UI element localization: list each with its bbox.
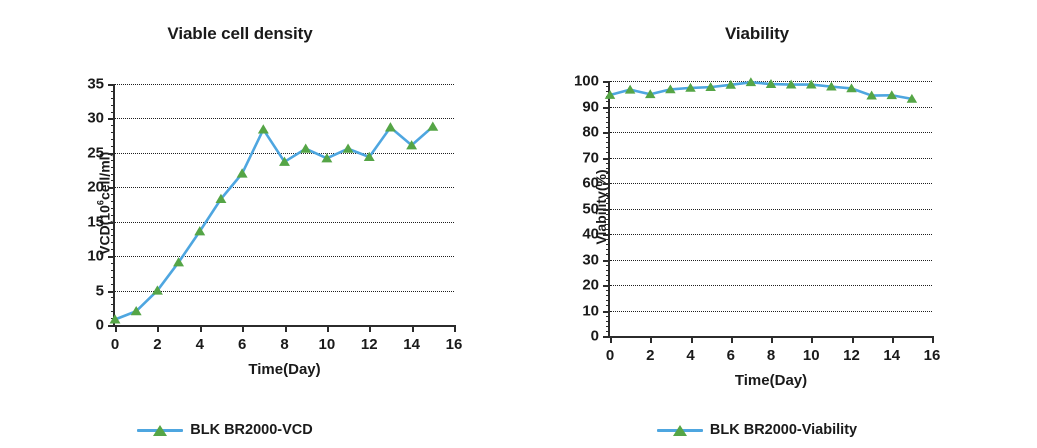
x-axis-tick-label: 10 xyxy=(803,347,820,364)
x-axis-tick xyxy=(454,325,456,332)
x-axis-tick-label: 2 xyxy=(646,347,654,364)
plot-area-viability: Viability(%) Time(Day) 01020304050607080… xyxy=(608,81,932,338)
y-axis-tick-label: 90 xyxy=(582,98,599,115)
y-axis-tick xyxy=(603,107,610,109)
series-layer xyxy=(610,81,932,336)
x-axis-tick-label: 12 xyxy=(361,336,378,353)
chart-title-vcd: Viable cell density xyxy=(30,24,450,44)
x-axis-tick xyxy=(327,325,329,332)
x-axis-tick xyxy=(115,325,117,332)
x-axis-tick xyxy=(650,336,652,343)
x-axis-tick xyxy=(242,325,244,332)
x-axis-tick-label: 16 xyxy=(924,347,941,364)
series-line xyxy=(610,82,912,99)
x-axis-tick-label: 2 xyxy=(153,336,161,353)
y-axis-tick-label: 30 xyxy=(87,110,104,127)
x-axis-tick xyxy=(892,336,894,343)
x-axis-tick xyxy=(852,336,854,343)
y-axis-tick xyxy=(603,260,610,262)
plot-area-vcd: VCD(106cell/ml) Time(Day) 05101520253035… xyxy=(113,84,454,327)
y-axis-tick xyxy=(603,234,610,236)
x-axis-tick xyxy=(412,325,414,332)
y-axis-tick xyxy=(108,291,115,293)
x-axis-tick-label: 6 xyxy=(727,347,735,364)
x-axis-tick-label: 8 xyxy=(767,347,775,364)
x-axis-tick-label: 10 xyxy=(319,336,336,353)
y-axis-tick xyxy=(603,183,610,185)
chart-panel-vcd: Viable cell density VCD(106cell/ml) Time… xyxy=(0,0,520,448)
x-axis-title-viability: Time(Day) xyxy=(610,372,932,389)
y-axis-tick xyxy=(603,158,610,160)
y-axis-tick-label: 20 xyxy=(87,179,104,196)
y-axis-tick xyxy=(108,222,115,224)
y-axis-tick-label: 15 xyxy=(87,213,104,230)
x-axis-title-vcd: Time(Day) xyxy=(115,361,454,378)
x-axis-tick xyxy=(157,325,159,332)
x-axis-tick xyxy=(285,325,287,332)
y-axis-tick xyxy=(108,187,115,189)
series-layer xyxy=(115,84,454,325)
x-axis-tick-label: 8 xyxy=(280,336,288,353)
y-axis-tick-label: 10 xyxy=(87,248,104,265)
x-axis-tick xyxy=(932,336,934,343)
y-axis-tick-label: 25 xyxy=(87,144,104,161)
x-axis-tick-label: 14 xyxy=(403,336,420,353)
data-point-marker xyxy=(625,85,636,94)
y-axis-tick xyxy=(108,256,115,258)
y-axis-tick-label: 35 xyxy=(87,76,104,93)
x-axis-tick-label: 14 xyxy=(883,347,900,364)
y-axis-tick-label: 5 xyxy=(96,282,104,299)
y-axis-tick-label: 30 xyxy=(582,251,599,268)
x-axis-tick-label: 4 xyxy=(686,347,694,364)
x-axis-tick xyxy=(691,336,693,343)
data-point-marker xyxy=(427,121,438,130)
legend-label-viability: BLK BR2000-Viability xyxy=(710,422,857,438)
series-line xyxy=(115,127,433,320)
legend-viability: BLK BR2000-Viability xyxy=(517,422,997,438)
y-axis-tick-label: 40 xyxy=(582,226,599,243)
y-axis-tick-label: 50 xyxy=(582,200,599,217)
x-axis-tick-label: 6 xyxy=(238,336,246,353)
data-point-marker xyxy=(385,122,396,131)
x-axis-tick-label: 0 xyxy=(111,336,119,353)
y-axis-tick-label: 0 xyxy=(96,317,104,334)
data-point-marker xyxy=(258,124,269,133)
y-axis-tick-label: 80 xyxy=(582,124,599,141)
y-axis-tick xyxy=(603,132,610,134)
chart-title-viability: Viability xyxy=(537,24,977,44)
data-point-marker xyxy=(343,144,354,153)
y-axis-tick xyxy=(603,209,610,211)
x-axis-tick-label: 16 xyxy=(446,336,463,353)
x-axis-tick xyxy=(369,325,371,332)
legend-marker-icon xyxy=(137,423,183,437)
y-axis-tick xyxy=(108,84,115,86)
chart-figure: Viable cell density VCD(106cell/ml) Time… xyxy=(0,0,1037,448)
y-axis-tick-label: 70 xyxy=(582,149,599,166)
chart-panel-viability: Viability Viability(%) Time(Day) 0102030… xyxy=(517,0,1037,448)
x-axis-tick xyxy=(811,336,813,343)
x-axis-tick-label: 0 xyxy=(606,347,614,364)
y-axis-tick-label: 100 xyxy=(574,73,599,90)
y-axis-tick xyxy=(603,285,610,287)
x-axis-tick xyxy=(771,336,773,343)
y-axis-tick-label: 60 xyxy=(582,175,599,192)
data-point-marker xyxy=(300,144,311,153)
y-axis-tick xyxy=(603,81,610,83)
y-axis-tick-label: 10 xyxy=(582,302,599,319)
x-axis-tick xyxy=(731,336,733,343)
x-axis-tick xyxy=(200,325,202,332)
legend-marker-icon xyxy=(657,423,703,437)
y-axis-tick xyxy=(108,325,115,327)
y-axis-tick xyxy=(603,336,610,338)
y-axis-tick-label: 20 xyxy=(582,277,599,294)
y-axis-tick xyxy=(603,311,610,313)
y-axis-tick xyxy=(108,118,115,120)
data-point-marker xyxy=(237,168,248,177)
x-axis-tick-label: 12 xyxy=(843,347,860,364)
x-axis-tick-label: 4 xyxy=(196,336,204,353)
y-axis-tick xyxy=(108,153,115,155)
legend-vcd: BLK BR2000-VCD xyxy=(0,422,450,438)
legend-label-vcd: BLK BR2000-VCD xyxy=(190,422,312,438)
x-axis-tick xyxy=(610,336,612,343)
y-axis-tick-label: 0 xyxy=(591,328,599,345)
